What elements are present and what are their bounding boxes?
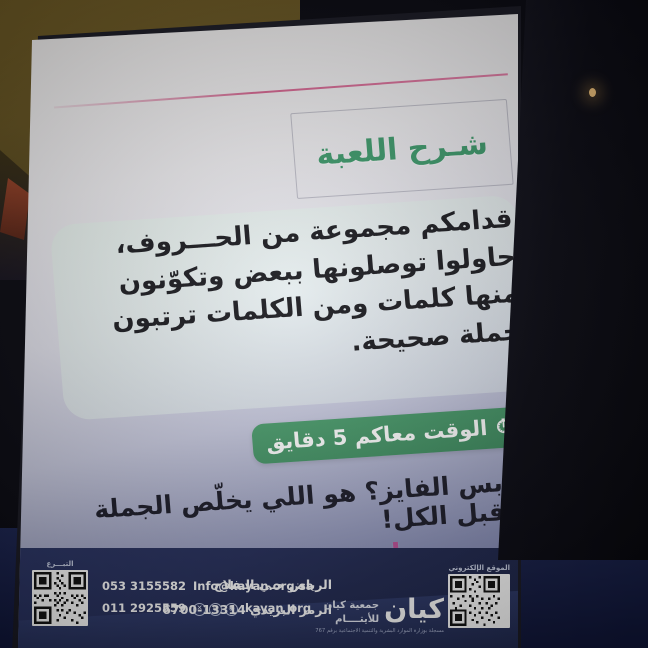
slide-body-text: قدامكم مجموعة من الحـــروف، حاولوا توصلو… — [60, 201, 518, 381]
donation-qr[interactable] — [32, 570, 88, 626]
address-line-2: الرمز البريدي 13314-6700 — [162, 598, 332, 622]
website-qr-block: الموقع الإلكتروني — [448, 564, 510, 628]
timer-label: الوقت معاكم 5 دقايق — [265, 416, 488, 455]
logo-subtitle: جمعية كيان للأيتــــام — [324, 596, 379, 626]
address-block: الرياض حـي الـفلاح الرمز البريدي 13314-6… — [162, 573, 332, 622]
donation-qr-block: التبـــرع — [32, 560, 88, 626]
slide-title-box: شـرح اللعبة — [290, 99, 513, 199]
logo-sub-line-1: جمعية كيان — [324, 599, 379, 613]
photo-scene: شـرح اللعبة قدامكم مجموعة من الحـــروف، … — [0, 0, 648, 648]
website-qr[interactable] — [448, 574, 510, 628]
logo-sub-line-2: للأيتــــام — [324, 613, 379, 627]
donation-qr-label: التبـــرع — [32, 560, 88, 568]
website-qr-label: الموقع الإلكتروني — [448, 564, 510, 572]
ambient-light-point — [589, 88, 596, 97]
presentation-slide: شـرح اللعبة قدامكم مجموعة من الحـــروف، … — [18, 14, 518, 648]
timer-badge: ⏱ الوقت معاكم 5 دقايق — [251, 406, 518, 464]
page-title: شـرح اللعبة — [315, 126, 489, 172]
slide-footer: التبـــرع — [18, 548, 518, 648]
logo-mark: كيان — [384, 596, 444, 623]
address-line-1: الرياض حـي الـفلاح — [162, 573, 332, 597]
license-text: مسجلة بوزارة الموارد البشرية والتنمية ال… — [315, 628, 444, 634]
organization-logo: كيان جمعية كيان للأيتــــام — [324, 596, 444, 626]
